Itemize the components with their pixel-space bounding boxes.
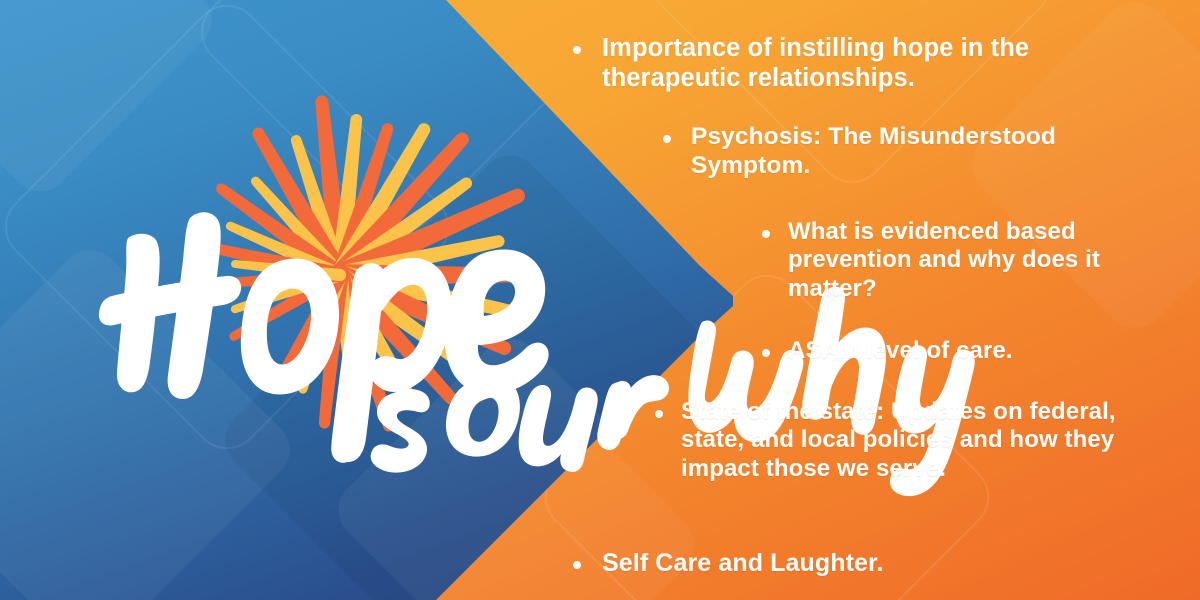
bullet-dot-icon <box>573 561 581 569</box>
list-item: Importance of instilling hope in the the… <box>602 33 1092 93</box>
list-item-label: Self Care and Laughter. <box>602 549 1062 579</box>
bullet-dot-icon <box>762 349 770 357</box>
list-item-label: Psychosis: The Misunderstood Symptom. <box>691 123 1111 181</box>
list-item: What is evidenced based prevention and w… <box>788 218 1133 303</box>
list-item: Self Care and Laughter. <box>602 549 1062 579</box>
list-item-label: What is evidenced based prevention and w… <box>788 218 1133 303</box>
agenda-bullet-list: Importance of instilling hope in the the… <box>0 0 1200 600</box>
presentation-slide: Importance of instilling hope in the the… <box>0 0 1200 600</box>
list-item-label: State of the state: Updates on federal, … <box>681 398 1117 483</box>
list-item: State of the state: Updates on federal, … <box>681 398 1117 483</box>
bullet-dot-icon <box>655 410 663 418</box>
list-item-label: ASAM level of care. <box>788 337 1133 365</box>
list-item-label: Importance of instilling hope in the the… <box>602 33 1092 93</box>
list-item: Psychosis: The Misunderstood Symptom. <box>691 123 1111 181</box>
bullet-dot-icon <box>573 46 581 54</box>
list-item: ASAM level of care. <box>788 337 1133 365</box>
bullet-dot-icon <box>762 230 770 238</box>
bullet-dot-icon <box>663 135 671 143</box>
